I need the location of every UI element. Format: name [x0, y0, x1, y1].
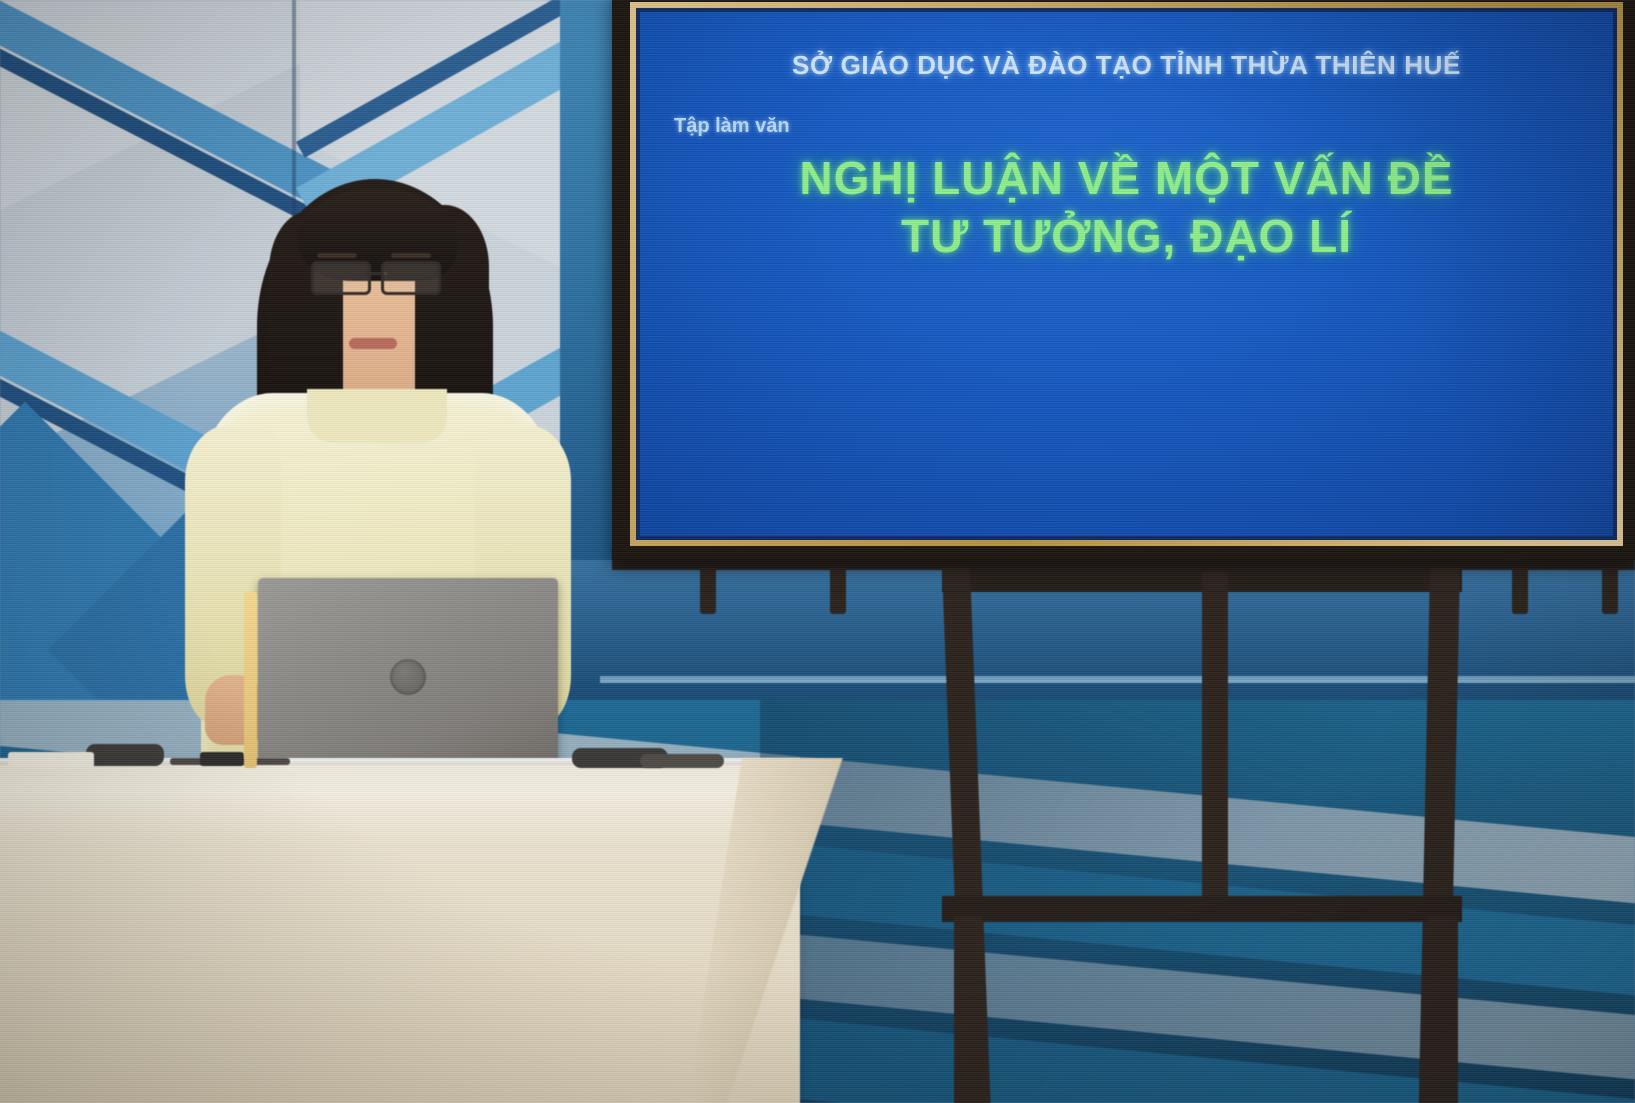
- collar: [307, 389, 447, 443]
- desk-stick: [244, 592, 257, 768]
- laptop[interactable]: [258, 578, 558, 768]
- stand-clip: [830, 568, 846, 614]
- stand-clip: [700, 568, 716, 614]
- glasses-lens-left: [311, 261, 371, 295]
- slide-title: NGHỊ LUẬN VỀ MỘT VẤN ĐỀ TƯ TƯỞNG, ĐẠO LÍ: [799, 150, 1453, 265]
- laptop-lid: [258, 578, 558, 768]
- stand-clip: [1602, 568, 1618, 614]
- stand-clip: [1512, 568, 1528, 614]
- eyebrow-right: [391, 253, 431, 258]
- desk-connector: [200, 752, 244, 766]
- stand-mid-rail: [942, 896, 1462, 922]
- glasses-lens-right: [381, 261, 441, 295]
- slide-organization-heading: SỞ GIÁO DỤC VÀ ĐÀO TẠO TỈNH THỪA THIÊN H…: [792, 50, 1461, 81]
- slide-surface[interactable]: SỞ GIÁO DỤC VÀ ĐÀO TẠO TỈNH THỪA THIÊN H…: [640, 12, 1613, 536]
- desk-cable-bundle: [86, 744, 164, 766]
- eyebrow-left: [317, 253, 357, 258]
- desk-paper: [8, 752, 94, 768]
- glasses: [311, 261, 441, 291]
- slide-title-line-1: NGHỊ LUẬN VỀ MỘT VẤN ĐỀ: [799, 150, 1453, 208]
- laptop-logo: [390, 659, 426, 695]
- studio-scene: SỞ GIÁO DỤC VÀ ĐÀO TẠO TỈNH THỪA THIÊN H…: [0, 0, 1635, 1103]
- slide-title-line-2: TƯ TƯỞNG, ĐẠO LÍ: [799, 208, 1453, 266]
- podium: [0, 765, 800, 1103]
- stand-leg-left-lower: [954, 916, 982, 1103]
- desk-cable-right-2: [640, 754, 724, 768]
- display-inner-frame: SỞ GIÁO DỤC VÀ ĐÀO TẠO TỈNH THỪA THIÊN H…: [636, 8, 1617, 540]
- mouth: [349, 338, 397, 349]
- stand-leg-center: [1202, 572, 1228, 902]
- presentation-display[interactable]: SỞ GIÁO DỤC VÀ ĐÀO TẠO TỈNH THỪA THIÊN H…: [612, 0, 1635, 560]
- display-gold-frame: SỞ GIÁO DỤC VÀ ĐÀO TẠO TỈNH THỪA THIÊN H…: [630, 2, 1623, 546]
- slide-subject-label: Tập làm văn: [674, 115, 790, 138]
- screen-scanlines: [640, 12, 1613, 536]
- stand-leg-right-lower: [1428, 916, 1458, 1103]
